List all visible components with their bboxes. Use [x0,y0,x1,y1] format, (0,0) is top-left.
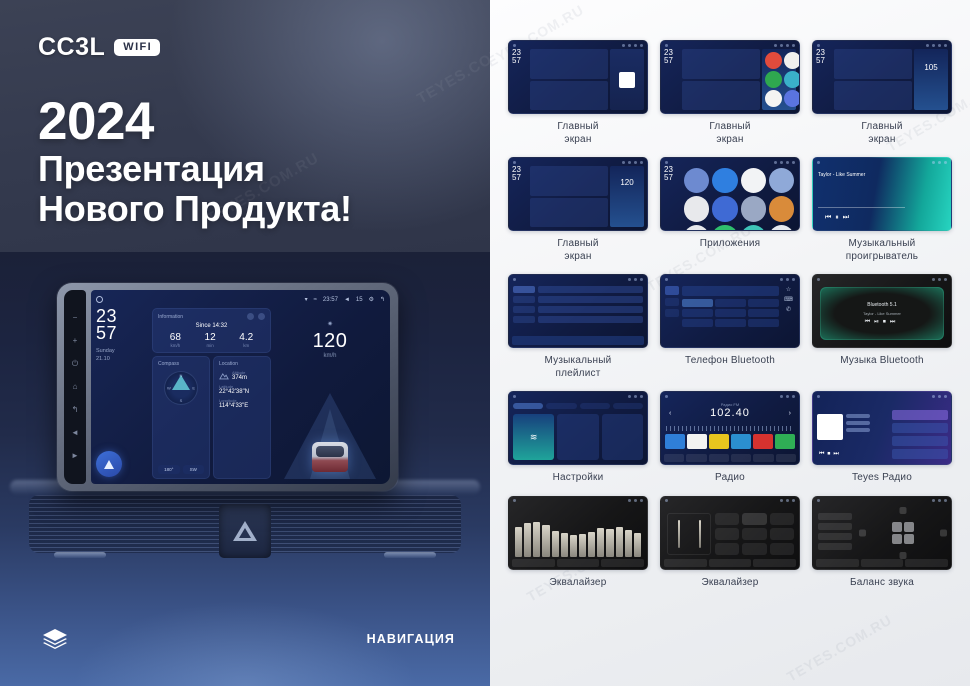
thumbnail-caption: Настройки [553,472,604,485]
stat-speed: 68 km/h [170,332,181,348]
thumbnail-music-player[interactable]: Taylor - Like Summer ⏮⏸⏭ [812,157,952,231]
stat-distance-value: 4.2 [239,332,253,343]
screens-grid-panel: TEYES.COM.RU TEYES.COM.RU TEYES.COM.RU T… [490,0,970,686]
minus-key-icon[interactable]: − [73,314,78,322]
compass-dial: N E S W [164,371,198,405]
hazard-triangle-icon [233,521,257,541]
thumbnail-caption: Главныйэкран [709,121,750,146]
speed-value: 120 [275,330,385,353]
grid-cell[interactable]: ≋ Настройки [508,391,648,485]
compass-e: E [192,386,195,391]
navigation-arrow-icon [104,460,114,469]
thumbnail-bluetooth-music[interactable]: Bluetooth 5.1 Taylor - Like Summer ⏮⏯⏹⏭ [812,274,952,348]
thumbnail-apps[interactable]: 2357 [660,157,800,231]
plus-key-icon[interactable]: + [73,337,78,345]
thumbnail-caption: Главныйэкран [557,238,598,263]
head-unit: − + ⏻ ⌂ ↰ ◄ ► ▾ ≈ 23:57 ◄ 15 ⚙ [57,283,398,491]
thumbnail-home-apps[interactable]: 2357 [660,40,800,114]
latitude-value: 22°42'38"N [219,389,265,395]
thumbnail-equalizer-bars[interactable] [508,496,648,570]
thumbnail-sound-balance[interactable] [812,496,952,570]
thumbnail-caption: Приложения [700,238,761,251]
signal-icon: ▾ [305,296,308,303]
power-key-icon[interactable]: ⏻ [72,360,78,368]
mountain-icon [219,372,229,380]
stat-speed-value: 68 [170,332,181,343]
thumbnail-caption: Главныйэкран [557,121,598,146]
hero-year: 2024 [38,95,352,149]
compass-direction: SW [183,465,205,474]
grid-cell[interactable]: 2357 105 Главныйэкран [812,40,952,146]
clock-date: 21.10 [96,355,148,363]
grid-cell[interactable]: Баланс звука [812,496,952,590]
thumbnail-caption: Музыкальныйплейлист [545,355,612,380]
grid-cell[interactable]: 2357 Приложения [660,157,800,263]
grid-cell[interactable]: 2357 120 Главныйэкран [508,157,648,263]
grid-cell[interactable]: ⏮⏹⏭ Teyes Радио [812,391,952,485]
thumbnail-home-media[interactable]: 2357 [508,40,648,114]
stat-time-value: 12 [205,332,216,343]
altitude-value: 374m [232,375,247,381]
stat-time-unit: min [205,343,216,348]
compass-n: N [180,373,183,378]
screens-grid: 2357 Главныйэкран 2357 [508,40,952,589]
bt-track-label: Taylor - Like Summer [863,311,901,316]
page-title: 2024 Презентация Нового Продукта! [38,95,352,230]
thumbnail-equalizer-simple[interactable] [660,496,800,570]
thumbnail-caption: Телефон Bluetooth [685,355,775,368]
thumbnail-caption: Эквалайзер [702,577,759,590]
thumbnail-caption: Музыка Bluetooth [840,355,924,368]
volume-level: 15 [356,297,363,303]
grid-cell[interactable]: Bluetooth 5.1 Taylor - Like Summer ⏮⏯⏹⏭ … [812,274,952,380]
compass-s: S [180,398,183,403]
thumbnail-bluetooth-phone[interactable]: ☆ ⌨ ✆ [660,274,800,348]
stat-distance: 4.2 km [239,332,253,348]
wifi-icon: ≈ [314,297,317,303]
clock-weekday: Sunday [96,347,148,355]
navigation-launch-button[interactable] [96,451,122,477]
radio-frequency: 102.40 [661,407,799,419]
thumbnail-caption: Радио [715,472,745,485]
longitude-value: 114°4'33"E [219,403,265,409]
location-title: Location [219,361,265,367]
hazard-button[interactable] [219,504,271,558]
grid-cell[interactable]: ☆ ⌨ ✆ Телефон Bluetooth [660,274,800,380]
thumbnail-radio[interactable]: Радио FM 102.40 ‹ › [660,391,800,465]
dialpad-icon: ⌨ [784,296,793,303]
head-unit-side-keys[interactable]: − + ⏻ ⌂ ↰ ◄ ► [64,290,86,484]
compass-w: W [167,386,171,391]
status-time: 23:57 [323,297,338,303]
stat-time: 12 min [205,332,216,348]
bt-version-label: Bluetooth 5.1 [867,302,896,308]
player-track-title: Taylor - Like Summer [818,172,865,178]
speed-icon: ✷ [327,320,333,328]
grid-cell[interactable]: Эквалайзер [508,496,648,590]
car-graphic [312,442,348,472]
grid-cell[interactable]: Радио FM 102.40 ‹ › Радио [660,391,800,485]
compass-heading: 180° [158,465,180,474]
grid-cell[interactable]: Taylor - Like Summer ⏮⏸⏭ Музыкальныйпрои… [812,157,952,263]
expand-icon[interactable] [258,313,265,320]
gear-icon[interactable]: ⚙ [369,296,374,303]
information-widget[interactable]: Information Since 14:32 68 km/h [152,308,271,353]
hero-headline-2: Нового Продукта! [38,189,352,229]
grid-cell[interactable]: 2357 Главныйэкран [508,40,648,146]
product-logo: CC3L WIFI [38,33,160,62]
status-bar: ▾ ≈ 23:57 ◄ 15 ⚙ ↰ [96,294,385,305]
thumbnail-caption: Баланс звука [850,577,914,590]
volume-icon[interactable]: ◄ [344,297,350,303]
prev-station-icon[interactable]: ‹ [669,410,671,417]
home-icon[interactable] [96,296,103,303]
star-icon: ☆ [786,286,791,293]
location-widget[interactable]: Location Altitude 374m [213,356,271,479]
grid-cell[interactable]: Музыкальныйплейлист [508,274,648,380]
call-icon: ✆ [786,306,791,313]
clock-minutes: 57 [96,325,148,342]
prev-key-icon[interactable]: ◄ [71,429,79,437]
thumbnail-caption: Музыкальныйпроигрыватель [846,238,918,263]
layers-icon [42,628,68,650]
wifi-badge: WIFI [114,39,160,56]
thumbnail-playlist[interactable] [508,274,648,348]
thumbnail-caption: Эквалайзер [550,577,607,590]
thumbnail-home-speed2[interactable]: 2357 120 [508,157,648,231]
thumbnail-settings[interactable]: ≋ [508,391,648,465]
speed-unit: km/h [275,353,385,359]
hero-headline-1: Презентация [38,149,352,189]
next-station-icon[interactable]: › [789,410,791,417]
navigation-label: НАВИГАЦИЯ [367,632,455,646]
back-key-icon[interactable]: ↰ [72,406,79,414]
thumbnail-home-speed[interactable]: 2357 105 [812,40,952,114]
compass-widget[interactable]: Compass N E S W 180° S [152,356,210,479]
wifi-icon: ≋ [513,414,554,460]
compass-title: Compass [158,361,204,367]
stat-speed-unit: km/h [170,343,181,348]
head-unit-screen: ▾ ≈ 23:57 ◄ 15 ⚙ ↰ 23 57 [91,290,390,484]
watermark: TEYES.COM.RU [414,30,490,108]
trip-since: Since 14:32 [158,323,265,329]
vent-slot-left [54,552,106,558]
back-arrow-icon[interactable]: ↰ [380,296,385,303]
logo-text: CC3L [38,33,105,62]
next-key-icon[interactable]: ► [71,452,79,460]
vent-slot-right [384,552,436,558]
thumbnail-caption: Главныйэкран [861,121,902,146]
hero-panel: TEYES.COM.RU TEYES.COM.RU TEYES.COM.RU T… [0,0,490,686]
clock-widget: 23 57 Sunday 21.10 [96,308,148,479]
information-title: Information [158,314,183,320]
thumbnail-teyes-radio[interactable]: ⏮⏹⏭ [812,391,952,465]
home-key-icon[interactable]: ⌂ [73,383,78,391]
grid-cell[interactable]: Эквалайзер [660,496,800,590]
refresh-icon[interactable] [247,313,254,320]
stat-distance-unit: km [239,343,253,348]
watermark: TEYES.COM.RU [784,611,895,684]
grid-cell[interactable]: 2357 Главныйэкран [660,40,800,146]
speed-widget[interactable]: ✷ 120 km/h [275,308,385,479]
presentation-slide: TEYES.COM.RU TEYES.COM.RU TEYES.COM.RU T… [0,0,970,686]
thumbnail-caption: Teyes Радио [852,472,912,485]
